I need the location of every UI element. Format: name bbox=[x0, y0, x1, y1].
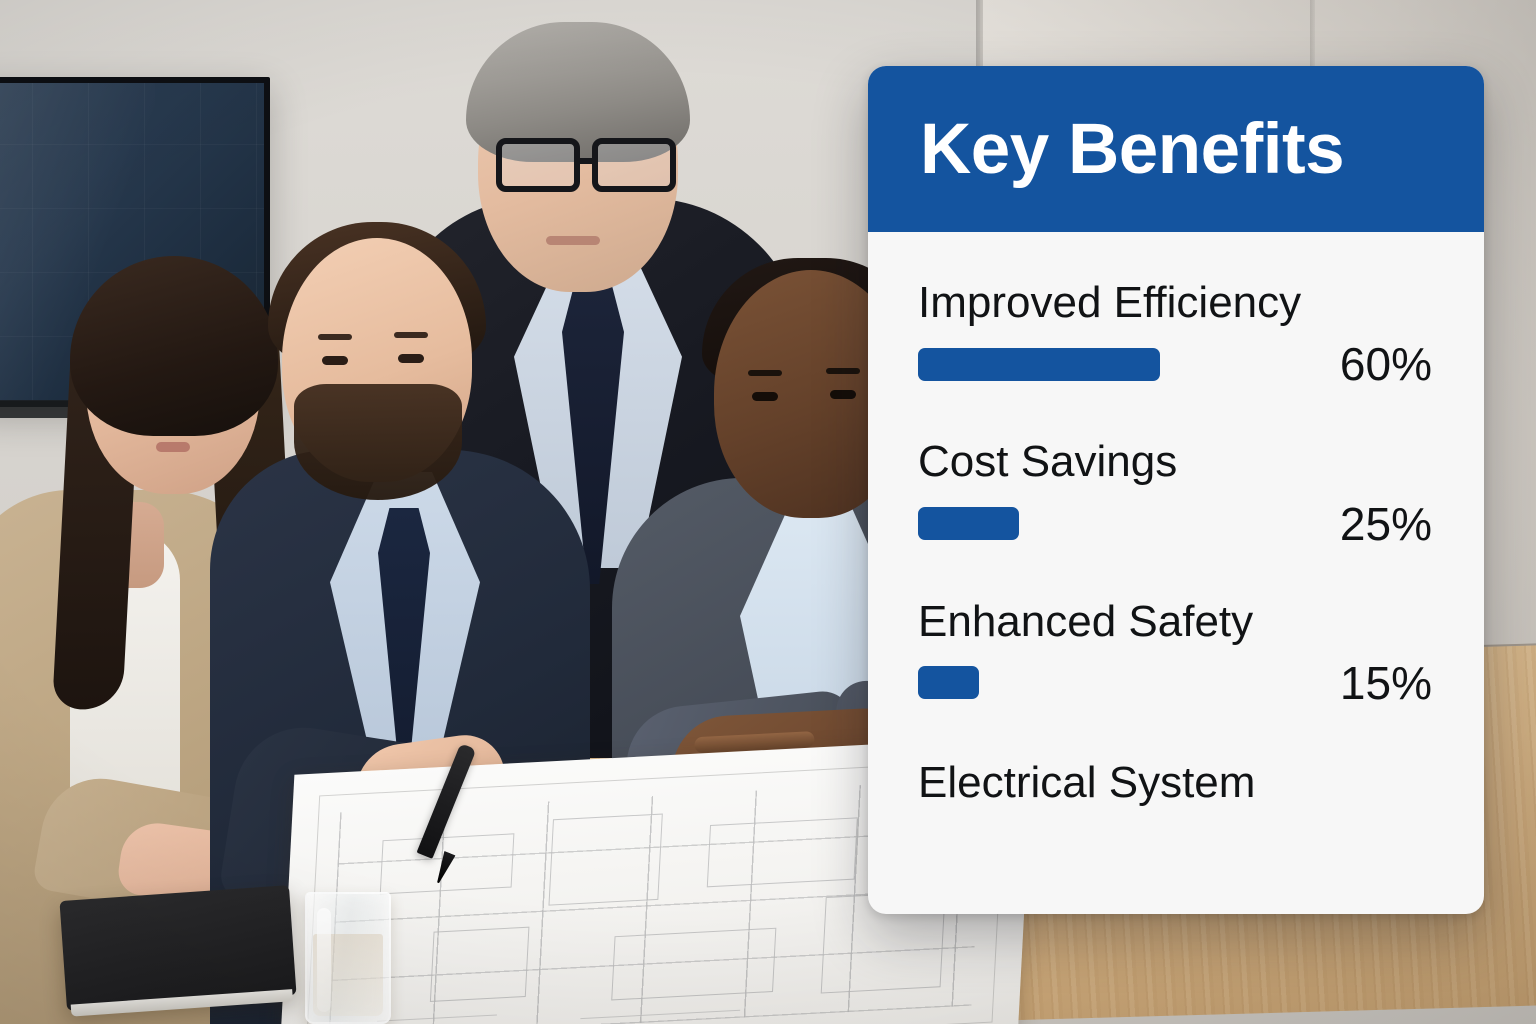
gray-suit-man-eye-right bbox=[830, 390, 856, 399]
gray-suit-man-brow-right bbox=[826, 368, 860, 374]
spacer bbox=[918, 547, 1432, 597]
blueprint-room bbox=[707, 817, 858, 887]
page-title: Key Benefits bbox=[920, 114, 1344, 185]
gray-suit-man-brow-left bbox=[748, 370, 782, 376]
benefit-item-enhanced-safety: Enhanced Safety 15% bbox=[918, 597, 1432, 700]
water-glass bbox=[305, 892, 391, 1024]
benefit-progress-row: 60% bbox=[918, 347, 1432, 381]
black-notebook bbox=[59, 885, 296, 1011]
benefit-item-improved-efficiency: Improved Efficiency 60% bbox=[918, 278, 1432, 381]
woman-mouth bbox=[156, 442, 190, 452]
progress-track bbox=[918, 507, 1314, 540]
water-glass-highlight bbox=[317, 908, 331, 1012]
gray-suit-man-eye-left bbox=[752, 392, 778, 401]
benefit-label: Electrical System bbox=[918, 758, 1432, 807]
bearded-man-brow-right bbox=[394, 332, 428, 338]
blueprint-room bbox=[611, 928, 776, 1001]
progress-track bbox=[918, 666, 1314, 699]
benefit-percent: 60% bbox=[1314, 341, 1432, 387]
eyeglasses-bridge bbox=[580, 158, 594, 164]
eyeglasses-left-lens bbox=[496, 138, 580, 192]
bearded-man-eye-left bbox=[322, 356, 348, 365]
benefit-progress-row: 25% bbox=[918, 507, 1432, 541]
eyeglasses-right-lens bbox=[592, 138, 676, 192]
key-benefits-card: Key Benefits Improved Efficiency 60% Cos… bbox=[868, 66, 1484, 914]
progress-fill bbox=[918, 348, 1160, 381]
spacer bbox=[918, 387, 1432, 437]
benefit-label: Cost Savings bbox=[918, 437, 1432, 486]
progress-track bbox=[918, 348, 1314, 381]
benefit-item-electrical-system: Electrical System bbox=[918, 758, 1432, 807]
progress-fill bbox=[918, 666, 979, 699]
bearded-man-beard bbox=[294, 384, 462, 500]
bearded-man-brow-left bbox=[318, 334, 352, 340]
blueprint-dimension-line bbox=[377, 1014, 497, 1022]
blueprint-room bbox=[548, 814, 662, 906]
benefit-percent: 25% bbox=[1314, 501, 1432, 547]
benefit-label: Improved Efficiency bbox=[918, 278, 1432, 327]
standing-man-mouth bbox=[546, 236, 600, 245]
card-body: Improved Efficiency 60% Cost Savings 25%… bbox=[868, 232, 1484, 807]
blueprint-dimension-line bbox=[580, 1010, 740, 1020]
benefit-item-cost-savings: Cost Savings 25% bbox=[918, 437, 1432, 540]
progress-fill bbox=[918, 507, 1019, 540]
benefit-percent: 15% bbox=[1314, 660, 1432, 706]
card-header: Key Benefits bbox=[868, 66, 1484, 232]
benefit-label: Enhanced Safety bbox=[918, 597, 1432, 646]
blueprint-room bbox=[430, 927, 530, 1002]
benefit-progress-row: 15% bbox=[918, 666, 1432, 700]
bearded-man-eye-right bbox=[398, 354, 424, 363]
